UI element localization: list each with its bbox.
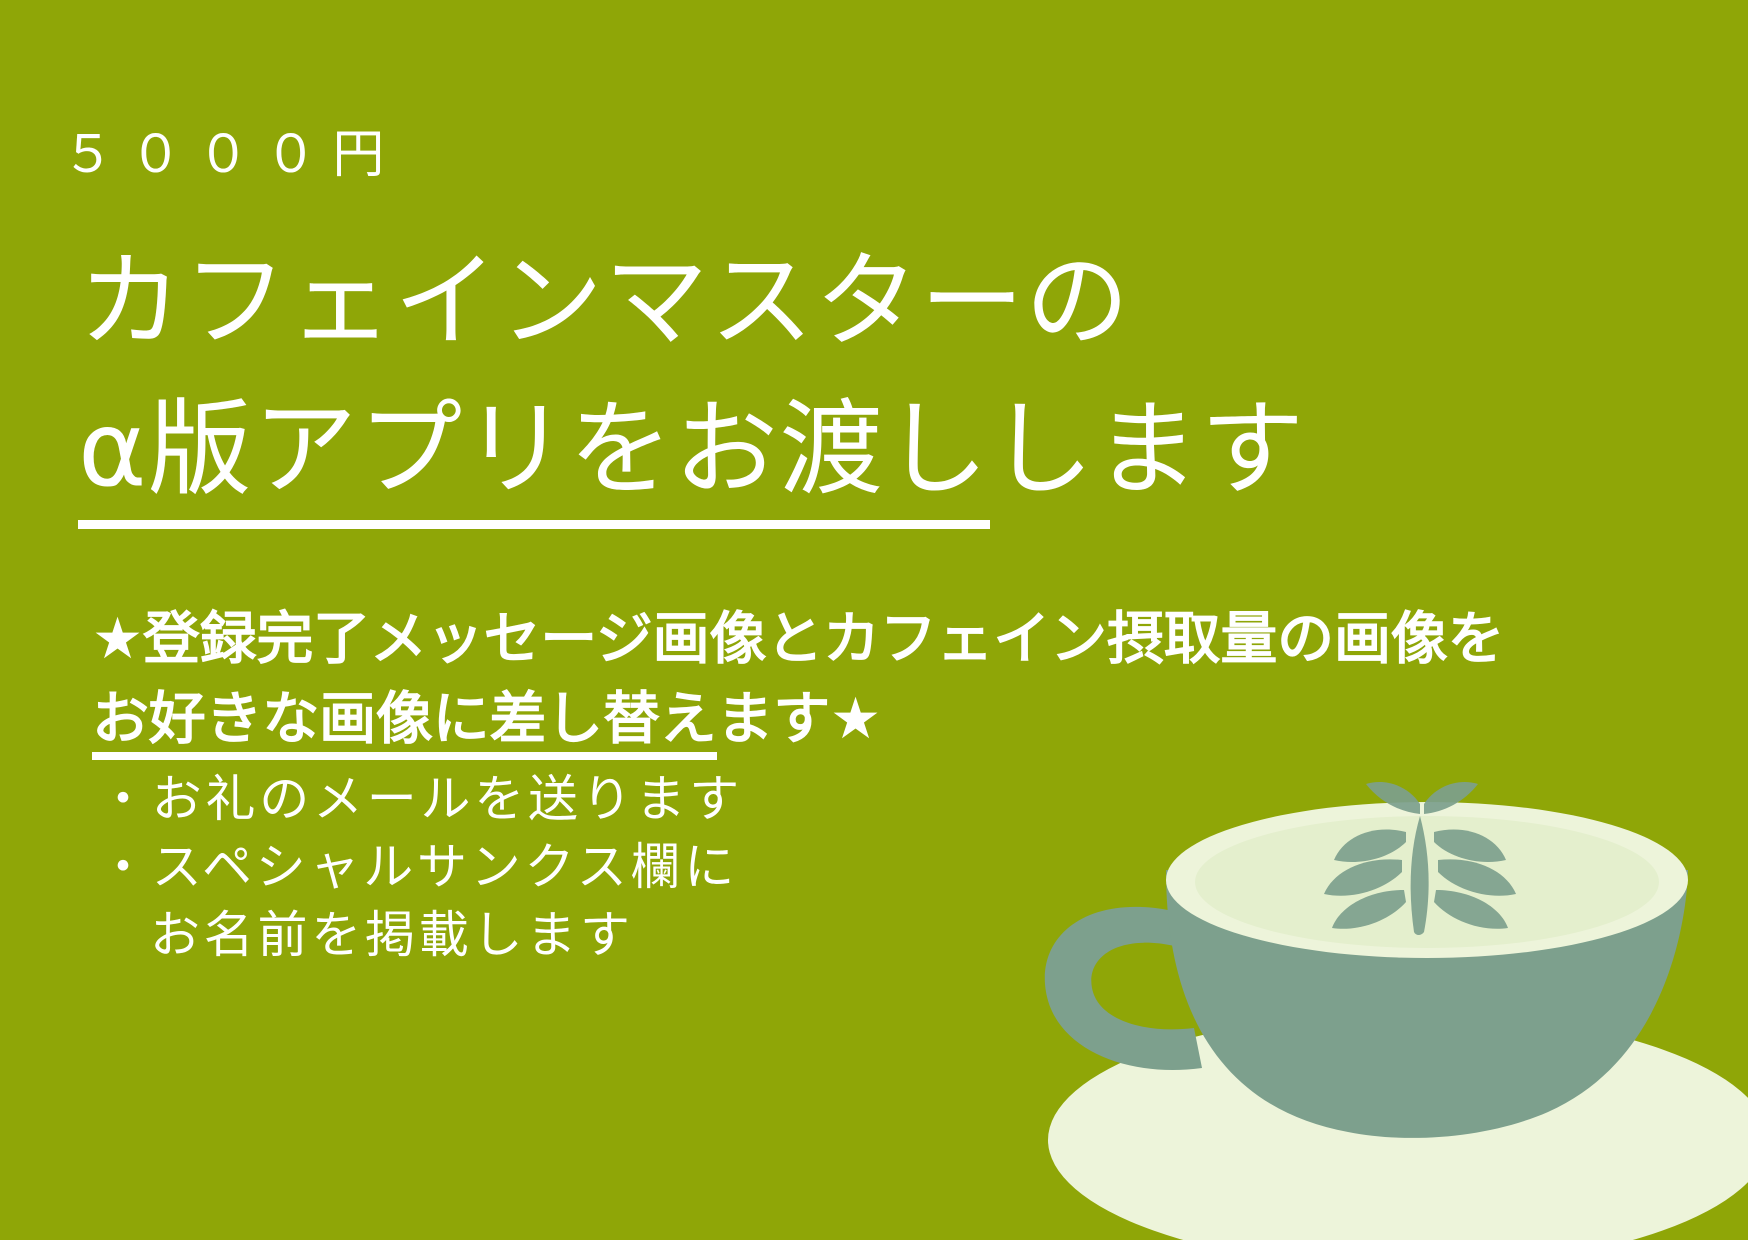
- desc-text-2-plain: ます★: [717, 686, 881, 752]
- price-label: ５０００円: [62, 129, 400, 181]
- page-title: カフェインマスターの α版アプリをお渡しします: [78, 228, 1306, 523]
- reward-description: ★登録完了メッセージ画像とカフェイン摂取量の画像を お好きな画像に差し替えます★: [92, 600, 1504, 760]
- list-item: ・スペシャルサンクス欄に: [98, 833, 743, 901]
- list-item: ・お礼のメールを送ります: [98, 765, 743, 833]
- desc-line-1: ★登録完了メッセージ画像とカフェイン摂取量の画像を: [92, 600, 1504, 680]
- desc-line-2: お好きな画像に差し替えます★: [92, 680, 1504, 760]
- reward-bullet-list: ・お礼のメールを送ります ・スペシャルサンクス欄に お名前を掲載します: [98, 765, 743, 969]
- reward-tier-poster: ５０００円 カフェインマスターの α版アプリをお渡しします ★登録完了メッセージ…: [0, 0, 1748, 1240]
- desc-text-1: ★登録完了メッセージ画像とカフェイン摂取量の画像を: [92, 606, 1504, 672]
- headline-line-1: カフェインマスターの: [78, 228, 1306, 376]
- headline-text-2-plain: します: [990, 388, 1306, 510]
- headline-text-2-underlined: α版アプリをお渡し: [78, 376, 990, 524]
- headline-text-1: カフェインマスターの: [78, 240, 1130, 362]
- desc-text-2-underlined: お好きな画像に差し替え: [92, 680, 717, 760]
- headline-line-2: α版アプリをお渡しします: [78, 376, 1306, 524]
- list-item: お名前を掲載します: [98, 901, 743, 969]
- poster-content: ５０００円 カフェインマスターの α版アプリをお渡しします ★登録完了メッセージ…: [0, 0, 1748, 1240]
